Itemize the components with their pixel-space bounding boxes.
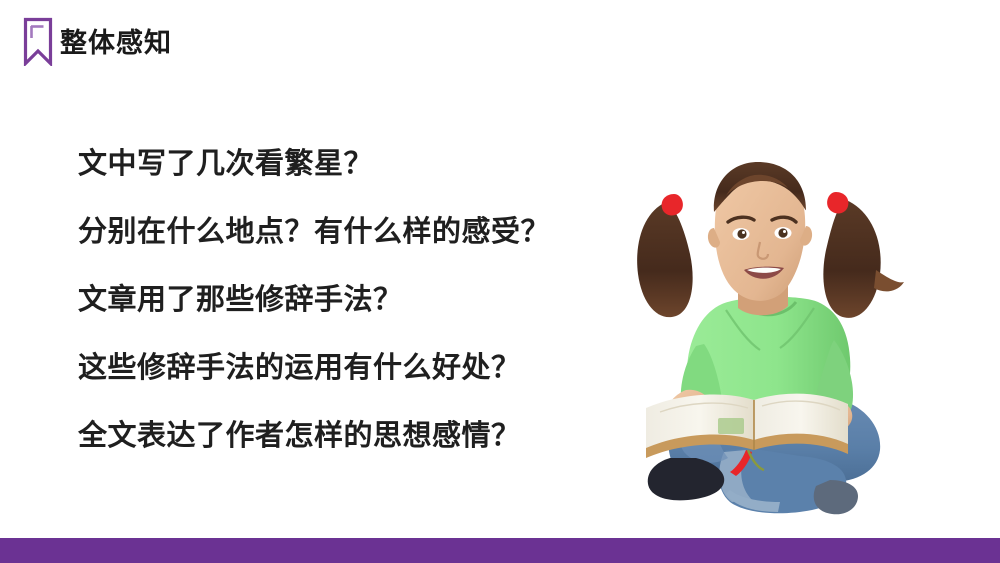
question-line-5: 全文表达了作者怎样的思想感情？ bbox=[78, 418, 618, 454]
slide-header: 整体感知 bbox=[0, 0, 1000, 90]
question-line-2: 分别在什么地点？有什么样的感受？ bbox=[78, 214, 618, 250]
question-line-4: 这些修辞手法的运用有什么好处？ bbox=[78, 350, 618, 386]
slide-canvas: 整体感知 文中写了几次看繁星？ 分别在什么地点？有什么样的感受？ 文章用了那些修… bbox=[0, 0, 1000, 563]
bookmark-icon bbox=[23, 17, 53, 66]
question-line-1: 文中写了几次看繁星？ bbox=[78, 146, 618, 182]
girl-reading-book-photo bbox=[630, 150, 910, 535]
photo-foot-right bbox=[814, 480, 858, 514]
question-list: 文中写了几次看繁星？ 分别在什么地点？有什么样的感受？ 文章用了那些修辞手法？ … bbox=[78, 146, 618, 454]
page-title: 整体感知 bbox=[60, 26, 172, 60]
question-line-3: 文章用了那些修辞手法？ bbox=[78, 282, 618, 318]
footer-bar bbox=[0, 538, 1000, 563]
